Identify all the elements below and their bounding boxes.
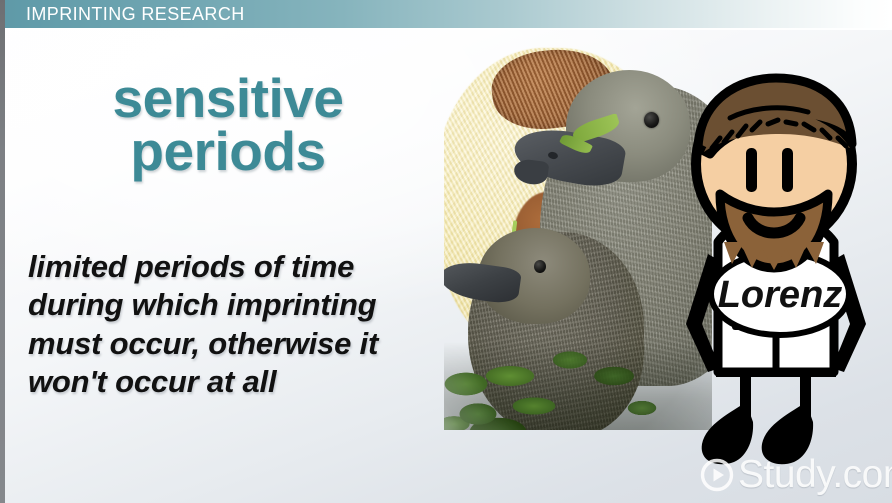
body-line-4: won't occur at all — [28, 363, 458, 401]
study-watermark: Study.com — [700, 452, 892, 498]
body-line-2: during which imprinting — [28, 286, 458, 324]
play-circle-icon — [700, 458, 734, 492]
cartoon-scientist: Lorenz — [660, 72, 892, 472]
slide-canvas: Lorenz — [0, 0, 892, 503]
name-badge-label: Lorenz — [718, 274, 843, 316]
header-title: IMPRINTING RESEARCH — [26, 2, 245, 26]
slide-title-line-2: periods — [28, 125, 428, 178]
body-line-3: must occur, otherwise it — [28, 325, 458, 363]
slide-title: sensitive periods — [28, 72, 428, 178]
body-line-1: limited periods of time — [28, 248, 458, 286]
foliage-leaves-2 — [548, 342, 668, 430]
gosling-upper-eye — [644, 112, 659, 128]
gosling-lower-eye — [534, 260, 546, 273]
left-rail — [0, 0, 5, 503]
left-eye — [746, 148, 757, 192]
slide-body-text: limited periods of time during which imp… — [28, 248, 458, 402]
right-eye — [782, 148, 793, 192]
watermark-text: Study.com — [738, 455, 892, 495]
header-underline — [5, 28, 892, 30]
